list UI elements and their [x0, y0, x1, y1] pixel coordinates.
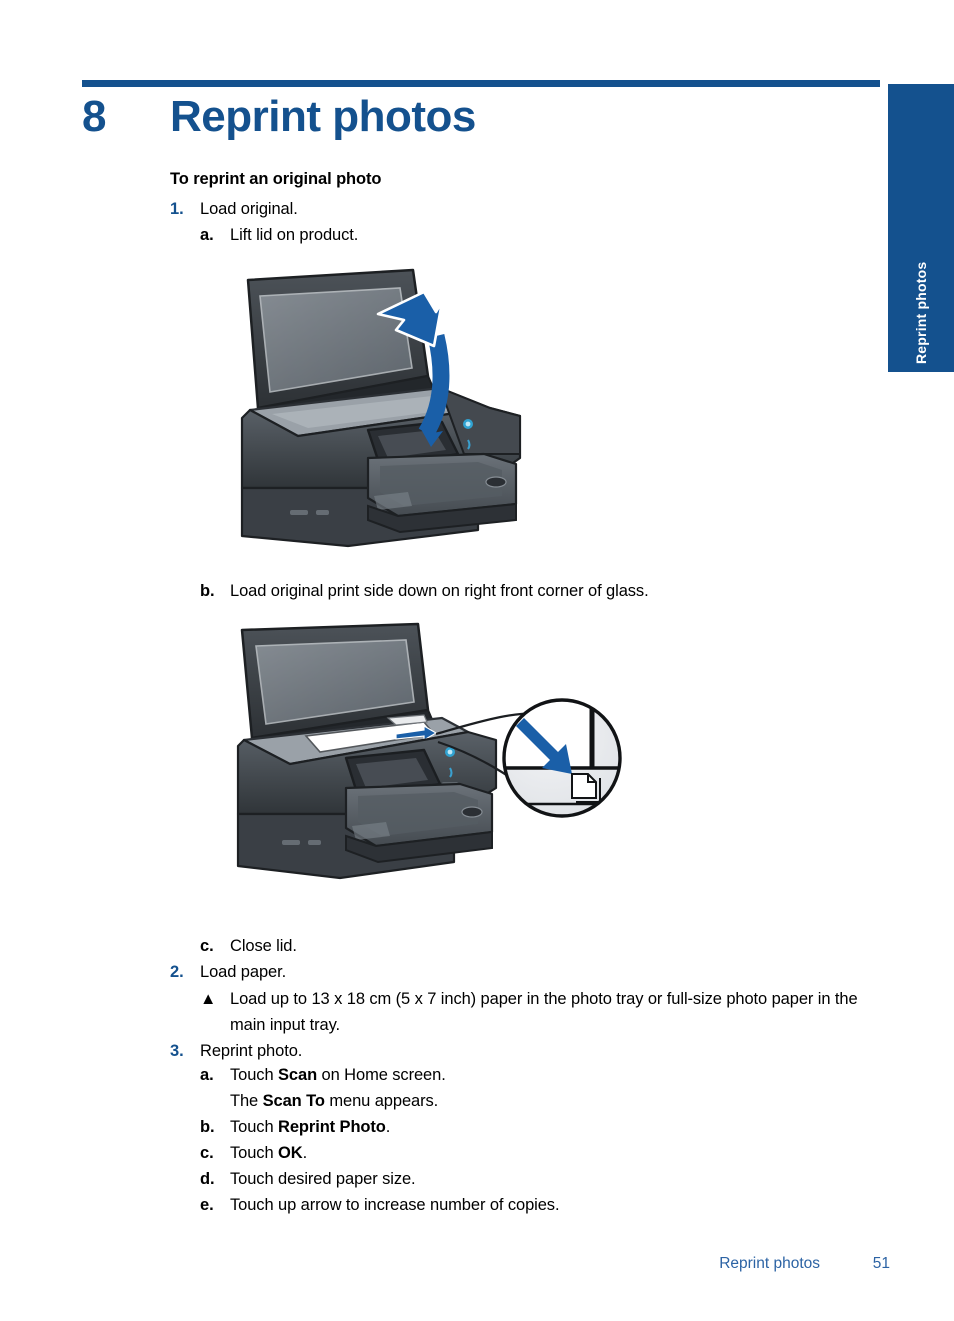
step-1b-text: Load original print side down on right f…	[230, 582, 649, 600]
step-3a-text-post: on Home screen.	[317, 1066, 446, 1084]
step-3c: c.Touch OK.	[200, 1140, 307, 1166]
step-2: 2.Load paper.	[170, 959, 286, 985]
step-3b-text-pre: Touch	[230, 1118, 278, 1136]
triangle-bullet-icon: ▲	[200, 986, 230, 1012]
page-footer: Reprint photos 51	[0, 1255, 890, 1273]
step-3c-text-post: .	[303, 1144, 307, 1162]
printer-load-original-illustration	[228, 618, 628, 908]
step-1: 1.Load original.	[170, 196, 298, 222]
step-3d-marker: d.	[200, 1166, 230, 1192]
chapter-number: 8	[82, 92, 170, 142]
step-3c-text-pre: Touch	[230, 1144, 278, 1162]
step-3d: d.Touch desired paper size.	[200, 1166, 416, 1192]
step-3c-bold-ok: OK	[278, 1144, 303, 1162]
step-2-bullet-text: Load up to 13 x 18 cm (5 x 7 inch) paper…	[230, 986, 890, 1038]
step-1a: a.Lift lid on product.	[200, 222, 358, 248]
step-3a-text-pre: Touch	[230, 1066, 278, 1084]
step-3a-bold-scan-to: Scan To	[263, 1092, 325, 1110]
step-3a: a.Touch Scan on Home screen.	[200, 1062, 446, 1088]
page-title: 8 Reprint photos	[82, 92, 882, 142]
step-3a-bold-scan: Scan	[278, 1066, 317, 1084]
step-1a-marker: a.	[200, 222, 230, 248]
step-3: 3.Reprint photo.	[170, 1038, 302, 1064]
step-1b-marker: b.	[200, 578, 230, 604]
step-3b-marker: b.	[200, 1114, 230, 1140]
header-rule	[82, 80, 880, 87]
printer-lid-lifted-illustration	[228, 258, 528, 548]
step-1a-text: Lift lid on product.	[230, 226, 358, 244]
step-3d-text: Touch desired paper size.	[230, 1170, 416, 1188]
step-3a-note-pre: The	[230, 1092, 263, 1110]
step-1c-marker: c.	[200, 933, 230, 959]
step-3-text: Reprint photo.	[200, 1042, 302, 1060]
step-2-bullet: ▲Load up to 13 x 18 cm (5 x 7 inch) pape…	[200, 986, 900, 1038]
card-slot-icon	[290, 510, 308, 515]
step-2-text: Load paper.	[200, 963, 286, 981]
chapter-title: Reprint photos	[170, 92, 476, 142]
step-1-text: Load original.	[200, 200, 298, 218]
side-tab: Reprint photos	[888, 84, 954, 372]
step-1b: b.Load original print side down on right…	[200, 578, 649, 604]
step-3-marker: 3.	[170, 1038, 200, 1064]
step-3b-text-post: .	[386, 1118, 390, 1136]
step-3a-marker: a.	[200, 1062, 230, 1088]
step-1c-text: Close lid.	[230, 937, 297, 955]
step-3e-text: Touch up arrow to increase number of cop…	[230, 1196, 559, 1214]
card-slot-icon	[282, 840, 300, 845]
side-tab-label: Reprint photos	[888, 84, 954, 372]
step-3a-note-post: menu appears.	[325, 1092, 438, 1110]
step-3b: b.Touch Reprint Photo.	[200, 1114, 390, 1140]
step-1c: c.Close lid.	[200, 933, 297, 959]
procedure-title: To reprint an original photo	[170, 170, 381, 189]
step-2-marker: 2.	[170, 959, 200, 985]
step-3e: e.Touch up arrow to increase number of c…	[200, 1192, 559, 1218]
step-3a-note: The Scan To menu appears.	[230, 1088, 438, 1114]
step-3b-bold-reprint-photo: Reprint Photo	[278, 1118, 386, 1136]
step-3c-marker: c.	[200, 1140, 230, 1166]
step-1-marker: 1.	[170, 196, 200, 222]
step-3e-marker: e.	[200, 1192, 230, 1218]
footer-page-number: 51	[866, 1255, 890, 1273]
footer-chapter-name: Reprint photos	[719, 1255, 820, 1273]
